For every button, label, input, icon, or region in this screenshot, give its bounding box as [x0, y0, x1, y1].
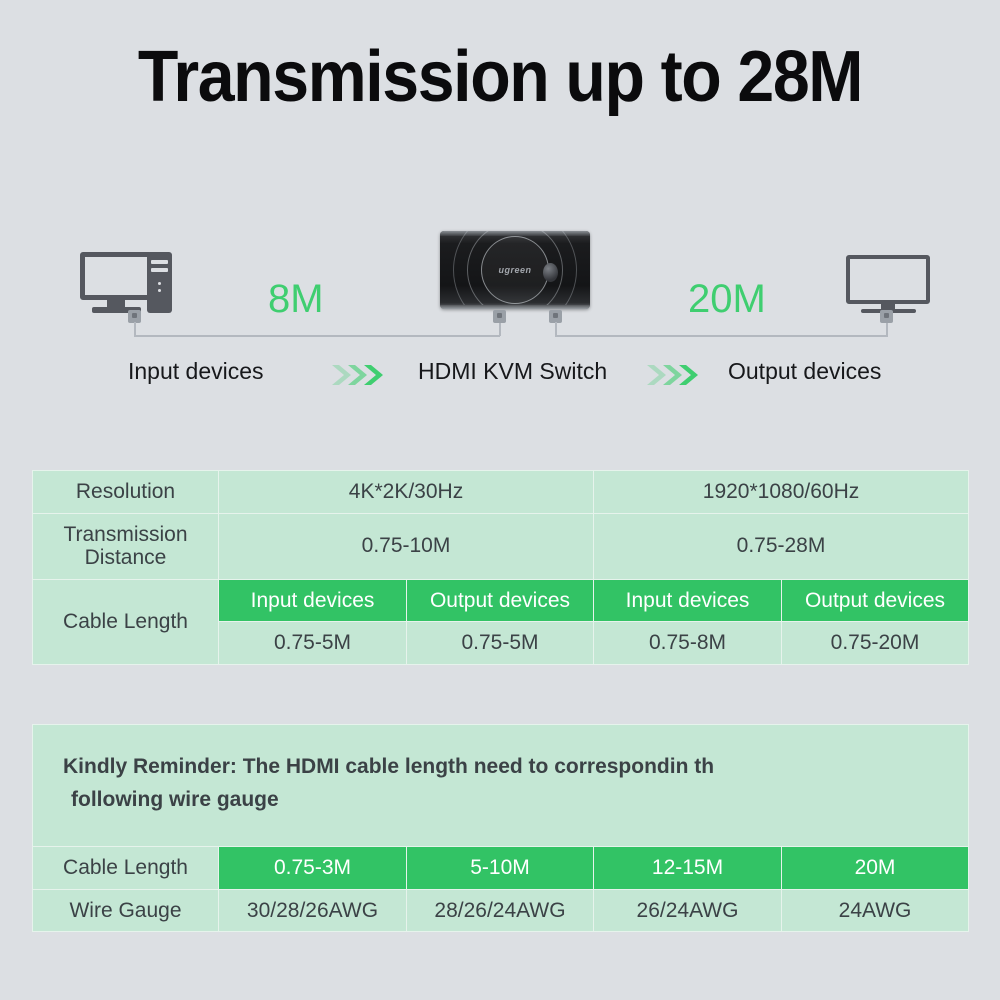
caption-hdmi-kvm-switch: HDMI KVM Switch [418, 358, 607, 385]
reminder-line-2: following wire gauge [63, 784, 968, 817]
brand-logo: ugreen [498, 265, 531, 275]
row-label-cable-length: Cable Length [33, 847, 219, 890]
input-monitor-icon [80, 252, 152, 300]
hdmi-kvm-switch-device: ugreen [440, 231, 590, 309]
cell-text: 0.75-8M [594, 622, 781, 664]
cell-text: 4K*2K/30Hz [219, 471, 593, 513]
table-row: Transmission Distance 0.75-10M 0.75-28M [33, 513, 969, 579]
cable-segment [555, 322, 557, 336]
reminder-line-1: Kindly Reminder: The HDMI cable length n… [63, 751, 968, 784]
table-row: Resolution 4K*2K/30Hz 1920*1080/60Hz [33, 471, 969, 514]
cable-connector-output [880, 310, 893, 323]
cell-text: 30/28/26AWG [219, 890, 406, 932]
cable-segment [886, 322, 888, 336]
cell-text: Output devices [782, 580, 968, 622]
column-header-input-devices-4k: Input devices [219, 579, 407, 622]
cable-segment [134, 335, 500, 337]
cell-text: 0.75-10M [219, 525, 593, 567]
page-title: Transmission up to 28M [40, 36, 960, 118]
column-header-output-devices-1080p: Output devices [782, 579, 969, 622]
cell-text: 5-10M [407, 847, 593, 889]
cell-text: 0.75-3M [219, 847, 406, 889]
cell-text: Output devices [407, 580, 593, 622]
cell-text: Wire Gauge [33, 890, 218, 932]
tower-slot-icon [151, 260, 168, 264]
specifications-table: Resolution 4K*2K/30Hz 1920*1080/60Hz Tra… [32, 470, 969, 665]
cable-segment [555, 335, 888, 337]
cable-segment [499, 322, 501, 336]
kindly-reminder-notice: Kindly Reminder: The HDMI cable length n… [33, 725, 969, 847]
cell-text: 12-15M [594, 847, 781, 889]
arrow-right-icon [330, 362, 392, 388]
cell-cable-length-4: 20M [782, 847, 969, 890]
distance-label-output: 20M [688, 277, 766, 322]
cell-text-multiline: Transmission Distance [33, 514, 218, 579]
wire-gauge-table: Kindly Reminder: The HDMI cable length n… [32, 724, 969, 932]
cell-text: 0.75-5M [407, 622, 593, 664]
row-label-cable-length: Cable Length [33, 579, 219, 664]
cell-cable-length-3: 12-15M [594, 847, 782, 890]
cell-resolution-4k: 4K*2K/30Hz [219, 471, 594, 514]
tower-dot-icon [158, 282, 161, 285]
cell-cable-length-input-4k: 0.75-5M [219, 622, 407, 665]
product-infographic-page: Transmission up to 28M ugreen [0, 0, 1000, 1000]
caption-output-devices: Output devices [728, 358, 881, 385]
cell-wire-gauge-3: 26/24AWG [594, 889, 782, 932]
cell-resolution-1080p: 1920*1080/60Hz [594, 471, 969, 514]
row-label-resolution: Resolution [33, 471, 219, 514]
cell-cable-length-2: 5-10M [407, 847, 594, 890]
output-monitor-icon [846, 255, 930, 304]
input-pc-tower-icon [147, 252, 172, 313]
cell-wire-gauge-1: 30/28/26AWG [219, 889, 407, 932]
distance-label-input: 8M [268, 277, 324, 322]
caption-input-devices: Input devices [128, 358, 264, 385]
row-label-wire-gauge: Wire Gauge [33, 889, 219, 932]
tower-slot-icon [151, 268, 168, 272]
row-label-transmission-distance: Transmission Distance [33, 513, 219, 579]
cell-text: 1920*1080/60Hz [594, 471, 968, 513]
column-header-output-devices-4k: Output devices [407, 579, 594, 622]
cell-text: Cable Length [33, 847, 218, 889]
table-row: Cable Length 0.75-3M 5-10M 12-15M 20M [33, 847, 969, 890]
cell-text: Input devices [594, 580, 781, 622]
cell-text: 20M [782, 847, 968, 889]
tower-dot-icon [158, 289, 161, 292]
cell-cable-length-output-1080p: 0.75-20M [782, 622, 969, 665]
cell-text: 0.75-28M [594, 525, 968, 567]
cell-text: Resolution [33, 471, 218, 513]
cell-text-line2: Distance [85, 546, 167, 569]
table-row: Kindly Reminder: The HDMI cable length n… [33, 725, 969, 847]
diagram-caption-row: Input devices HDMI KVM Switch Output dev… [0, 358, 1000, 392]
column-header-input-devices-1080p: Input devices [594, 579, 782, 622]
cell-cable-length-1: 0.75-3M [219, 847, 407, 890]
cell-text: 0.75-20M [782, 622, 968, 664]
table-row: Cable Length Input devices Output device… [33, 579, 969, 622]
table-row: Wire Gauge 30/28/26AWG 28/26/24AWG 26/24… [33, 889, 969, 932]
cable-segment [134, 322, 136, 336]
cell-text: 0.75-5M [219, 622, 406, 664]
cell-text: 26/24AWG [594, 890, 781, 932]
cell-wire-gauge-2: 28/26/24AWG [407, 889, 594, 932]
cell-text: 28/26/24AWG [407, 890, 593, 932]
cable-connector-switch-in [493, 310, 506, 323]
cell-cable-length-output-4k: 0.75-5M [407, 622, 594, 665]
cell-wire-gauge-4: 24AWG [782, 889, 969, 932]
cell-text-line1: Transmission [63, 523, 187, 546]
device-knob-icon [543, 263, 558, 282]
arrow-right-icon [645, 362, 707, 388]
cell-text: Cable Length [33, 601, 218, 643]
cell-distance-4k: 0.75-10M [219, 513, 594, 579]
cell-cable-length-input-1080p: 0.75-8M [594, 622, 782, 665]
cell-text: 24AWG [782, 890, 968, 932]
cell-distance-1080p: 0.75-28M [594, 513, 969, 579]
cell-text: Input devices [219, 580, 406, 622]
device-bottom-strip [440, 305, 590, 309]
